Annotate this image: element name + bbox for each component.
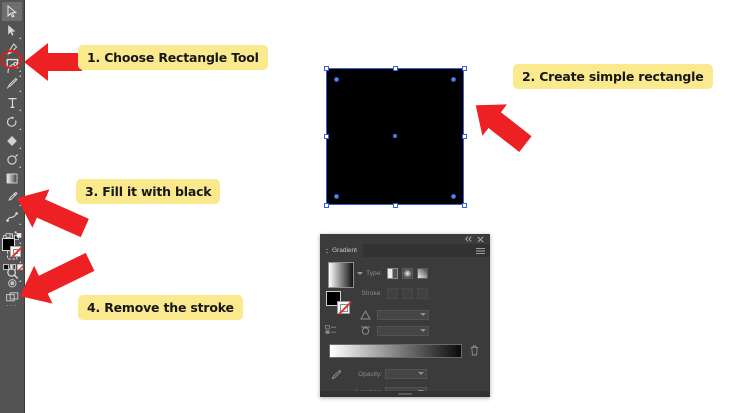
handle-top-right[interactable] <box>462 66 467 71</box>
flyout-indicator-icon <box>19 90 21 92</box>
gradient-preview-swatch[interactable] <box>328 262 354 288</box>
corner-widget-bottom-right[interactable] <box>451 194 456 199</box>
tool-direct-selection-tool[interactable] <box>2 21 22 40</box>
tool-rectangle-tool[interactable] <box>2 54 22 73</box>
opacity-label: Opacity: <box>346 371 382 378</box>
tool-type-tool[interactable] <box>2 93 22 112</box>
tool-rotate-tool[interactable] <box>2 112 22 131</box>
callout-arrow-1 <box>22 41 84 83</box>
center-anchor-point <box>393 134 397 138</box>
gradient-type-radial-icon[interactable] <box>402 268 413 279</box>
color-mode-icon[interactable] <box>3 264 9 270</box>
corner-widget-bottom-left[interactable] <box>334 194 339 199</box>
panel-tab-row: Gradient <box>320 244 490 257</box>
stroke-gradient-across-icon[interactable] <box>417 288 428 299</box>
panel-menu-icon[interactable] <box>476 248 485 254</box>
callout-3: 3. Fill it with black <box>76 179 220 204</box>
gradient-stop-order-icon <box>325 325 337 335</box>
handle-bottom-center[interactable] <box>393 203 398 208</box>
handle-bottom-right[interactable] <box>462 203 467 208</box>
handle-top-left[interactable] <box>324 66 329 71</box>
type-label: Type: <box>360 270 382 277</box>
handle-middle-left[interactable] <box>324 134 329 139</box>
corner-widget-top-left[interactable] <box>334 77 339 82</box>
aspect-ratio-icon[interactable] <box>360 326 371 336</box>
tool-paintbrush-tool[interactable] <box>2 74 22 93</box>
trash-icon[interactable] <box>470 345 479 356</box>
tab-grip-icon <box>325 248 329 254</box>
gradient-type-linear-icon[interactable] <box>387 268 398 279</box>
gradient-panel[interactable]: Gradient Type: Stroke: <box>320 234 490 397</box>
angle-chevron-down-icon <box>420 313 426 316</box>
stroke-label: Stroke: <box>353 290 382 297</box>
collapse-icon[interactable] <box>465 236 472 242</box>
tab-gradient-label: Gradient <box>332 247 357 254</box>
panel-titlebar <box>320 234 490 244</box>
close-icon[interactable] <box>477 236 484 243</box>
callout-4: 4. Remove the stroke <box>78 295 243 320</box>
tool-shape-builder-tool[interactable] <box>2 131 22 150</box>
flyout-indicator-icon <box>19 109 21 111</box>
panel-resize-footer[interactable] <box>320 391 490 397</box>
panel-stroke-swatch[interactable] <box>337 301 350 314</box>
stroke-gradient-within-icon[interactable] <box>387 288 398 299</box>
opacity-input[interactable] <box>385 369 427 379</box>
aspect-ratio-input[interactable] <box>377 326 429 336</box>
aspect-chevron-down-icon <box>420 329 426 332</box>
stroke-gradient-along-icon[interactable] <box>402 288 413 299</box>
flyout-indicator-icon <box>19 128 21 130</box>
opacity-chevron-down-icon <box>418 372 424 375</box>
handle-top-center[interactable] <box>393 66 398 71</box>
gradient-panel-body: Type: Stroke: <box>320 257 490 397</box>
callout-1: 1. Choose Rectangle Tool <box>78 45 268 70</box>
illustrator-window: ... <box>0 0 735 413</box>
flyout-indicator-icon <box>19 166 21 168</box>
reverse-gradient-icon[interactable] <box>360 310 371 320</box>
flyout-indicator-icon <box>19 70 21 72</box>
gradient-slider-bar[interactable] <box>329 344 462 358</box>
callout-arrow-2 <box>466 96 536 154</box>
callout-2: 2. Create simple rectangle <box>513 64 713 89</box>
angle-input[interactable] <box>377 310 429 320</box>
handle-bottom-left[interactable] <box>324 203 329 208</box>
eyedropper-icon[interactable] <box>330 369 342 383</box>
tool-selection-tool[interactable] <box>2 2 22 21</box>
flyout-indicator-icon <box>19 147 21 149</box>
flyout-indicator-icon <box>19 37 21 39</box>
panel-resize-grip-icon <box>398 393 412 395</box>
gradient-type-freeform-icon[interactable] <box>417 268 428 279</box>
corner-widget-top-right[interactable] <box>451 77 456 82</box>
tool-width-tool[interactable] <box>2 150 22 169</box>
tab-gradient[interactable]: Gradient <box>320 244 363 257</box>
